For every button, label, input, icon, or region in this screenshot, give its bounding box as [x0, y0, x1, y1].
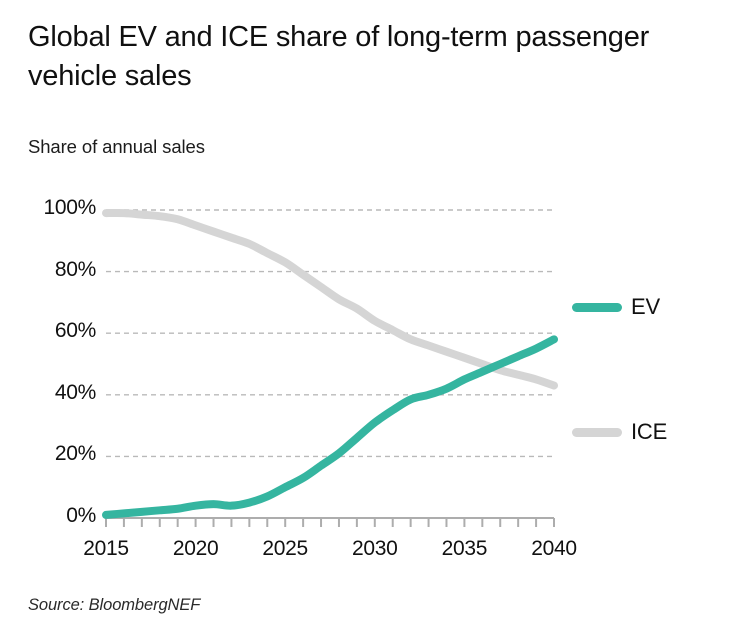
x-axis-tick-label: 2040: [531, 537, 577, 561]
legend-swatch-ev-icon: [572, 303, 622, 312]
legend-label: ICE: [631, 419, 667, 445]
x-axis-tick-label: 2015: [83, 537, 129, 561]
chart-legend: EVICE: [572, 0, 744, 632]
legend-swatch-ice-icon: [572, 428, 622, 437]
legend-item-ev[interactable]: EV: [572, 294, 660, 320]
x-axis-tick-label: 2035: [442, 537, 488, 561]
x-axis-tick-label: 2020: [173, 537, 219, 561]
chart-page: Global EV and ICE share of long-term pas…: [0, 0, 744, 632]
legend-label: EV: [631, 294, 660, 320]
legend-item-ice[interactable]: ICE: [572, 419, 667, 445]
x-axis-tick-label: 2025: [262, 537, 308, 561]
x-axis-tick-label: 2030: [352, 537, 398, 561]
source-note: Source: BloombergNEF: [28, 596, 200, 615]
